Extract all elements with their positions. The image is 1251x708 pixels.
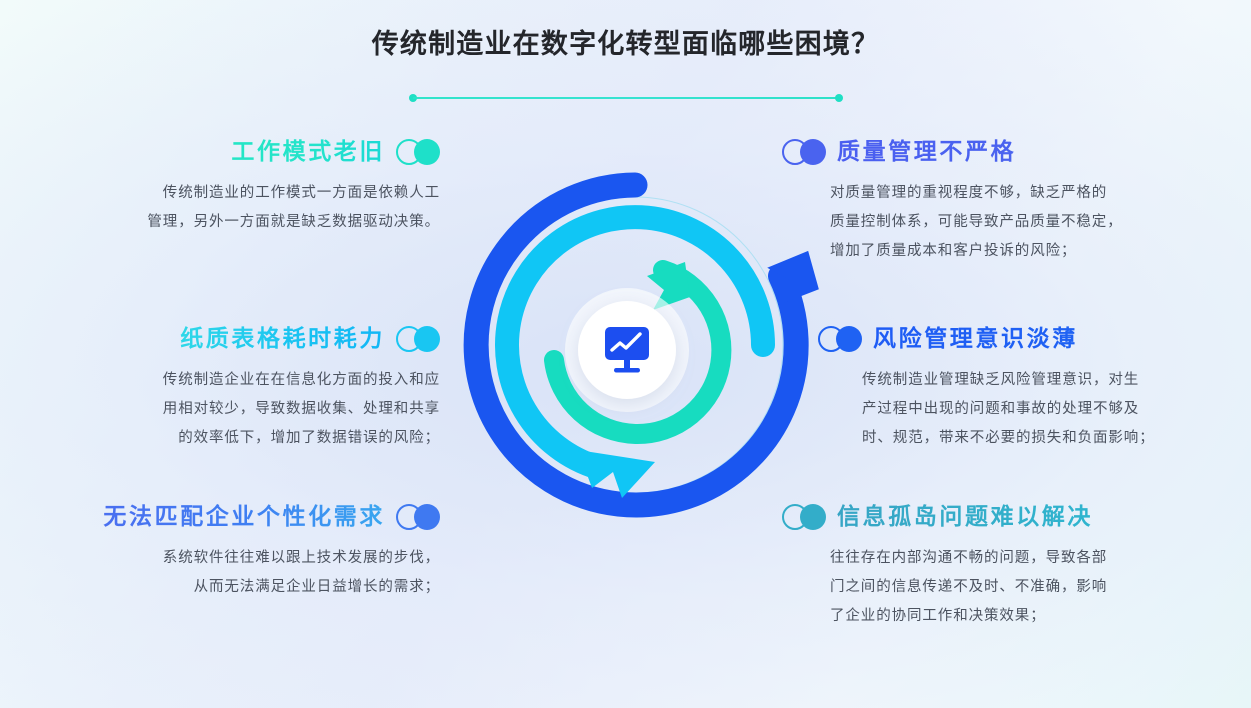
venn-toggle-icon	[396, 326, 440, 352]
block-body: 传统制造业管理缺乏风险管理意识，对生 产过程中出现的问题和事故的处理不够及 时、…	[862, 366, 1248, 453]
block-risk-awareness-weak: 风险管理意识淡薄 传统制造业管理缺乏风险管理意识，对生 产过程中出现的问题和事故…	[818, 325, 1248, 453]
infographic-canvas: 传统制造业在数字化转型面临哪些困境？	[0, 0, 1251, 708]
divider-dot-right	[835, 94, 843, 102]
body-line: 的效率低下，增加了数据错误的风险；	[10, 424, 440, 453]
block-body: 传统制造企业在在信息化方面的投入和应 用相对较少，导致数据收集、处理和共享 的效…	[10, 366, 440, 453]
venn-solid	[800, 139, 826, 165]
body-line: 从而无法满足企业日益增长的需求；	[10, 573, 440, 602]
block-heading: 工作模式老旧	[231, 138, 385, 166]
body-line: 往往存在内部沟通不畅的问题，导致各部	[830, 544, 1212, 573]
venn-solid	[836, 326, 862, 352]
body-line: 传统制造业管理缺乏风险管理意识，对生	[862, 366, 1248, 395]
body-line: 时、规范，带来不必要的损失和负面影响；	[862, 424, 1248, 453]
block-heading: 纸质表格耗时耗力	[180, 325, 385, 353]
body-line: 门之间的信息传递不及时、不准确，影响	[830, 573, 1212, 602]
block-heading-row: 工作模式老旧	[10, 138, 440, 166]
venn-toggle-icon	[782, 504, 826, 530]
body-line: 传统制造企业在在信息化方面的投入和应	[10, 366, 440, 395]
body-line: 对质量管理的重视程度不够，缺乏严格的	[830, 179, 1212, 208]
block-heading-row: 纸质表格耗时耗力	[10, 325, 440, 353]
block-quality-management-lax: 质量管理不严格 对质量管理的重视程度不够，缺乏严格的 质量控制体系，可能导致产品…	[782, 138, 1212, 266]
block-heading-row: 信息孤岛问题难以解决	[782, 503, 1212, 531]
title-area: 传统制造业在数字化转型面临哪些困境？	[0, 28, 1251, 62]
divider-line	[413, 97, 839, 99]
venn-solid	[414, 139, 440, 165]
venn-toggle-icon	[396, 139, 440, 165]
body-line: 管理，另外一方面就是缺乏数据驱动决策。	[10, 208, 440, 237]
venn-toggle-icon	[396, 504, 440, 530]
block-body: 系统软件往往难以跟上技术发展的步伐， 从而无法满足企业日益增长的需求；	[10, 544, 440, 602]
block-heading: 风险管理意识淡薄	[873, 325, 1078, 353]
body-line: 增加了质量成本和客户投诉的风险；	[830, 237, 1212, 266]
body-line: 系统软件往往难以跟上技术发展的步伐，	[10, 544, 440, 573]
venn-solid	[414, 326, 440, 352]
venn-toggle-icon	[818, 326, 862, 352]
block-heading-row: 风险管理意识淡薄	[818, 325, 1248, 353]
body-line: 用相对较少，导致数据收集、处理和共享	[10, 395, 440, 424]
title-divider	[409, 94, 843, 102]
block-paper-forms-costly: 纸质表格耗时耗力 传统制造企业在在信息化方面的投入和应 用相对较少，导致数据收集…	[10, 325, 440, 453]
block-heading: 无法匹配企业个性化需求	[103, 503, 385, 531]
page-title: 传统制造业在数字化转型面临哪些困境？	[0, 28, 1251, 62]
venn-solid	[414, 504, 440, 530]
block-body: 对质量管理的重视程度不够，缺乏严格的 质量控制体系，可能导致产品质量不稳定， 增…	[830, 179, 1212, 266]
body-line: 质量控制体系，可能导致产品质量不稳定，	[830, 208, 1212, 237]
block-work-mode-outdated: 工作模式老旧 传统制造业的工作模式一方面是依赖人工 管理，另外一方面就是缺乏数据…	[10, 138, 440, 237]
center-cycle-graphic	[450, 160, 820, 530]
body-line: 传统制造业的工作模式一方面是依赖人工	[10, 179, 440, 208]
block-body: 传统制造业的工作模式一方面是依赖人工 管理，另外一方面就是缺乏数据驱动决策。	[10, 179, 440, 237]
block-heading: 信息孤岛问题难以解决	[837, 503, 1093, 531]
block-body: 往往存在内部沟通不畅的问题，导致各部 门之间的信息传递不及时、不准确，影响 了企…	[830, 544, 1212, 631]
block-heading: 质量管理不严格	[837, 138, 1016, 166]
block-information-silos: 信息孤岛问题难以解决 往往存在内部沟通不畅的问题，导致各部 门之间的信息传递不及…	[782, 503, 1212, 631]
venn-toggle-icon	[782, 139, 826, 165]
block-heading-row: 无法匹配企业个性化需求	[10, 503, 440, 531]
block-cannot-match-custom-needs: 无法匹配企业个性化需求 系统软件往往难以跟上技术发展的步伐， 从而无法满足企业日…	[10, 503, 440, 602]
body-line: 产过程中出现的问题和事故的处理不够及	[862, 395, 1248, 424]
body-line: 了企业的协同工作和决策效果；	[830, 602, 1212, 631]
block-heading-row: 质量管理不严格	[782, 138, 1212, 166]
venn-solid	[800, 504, 826, 530]
